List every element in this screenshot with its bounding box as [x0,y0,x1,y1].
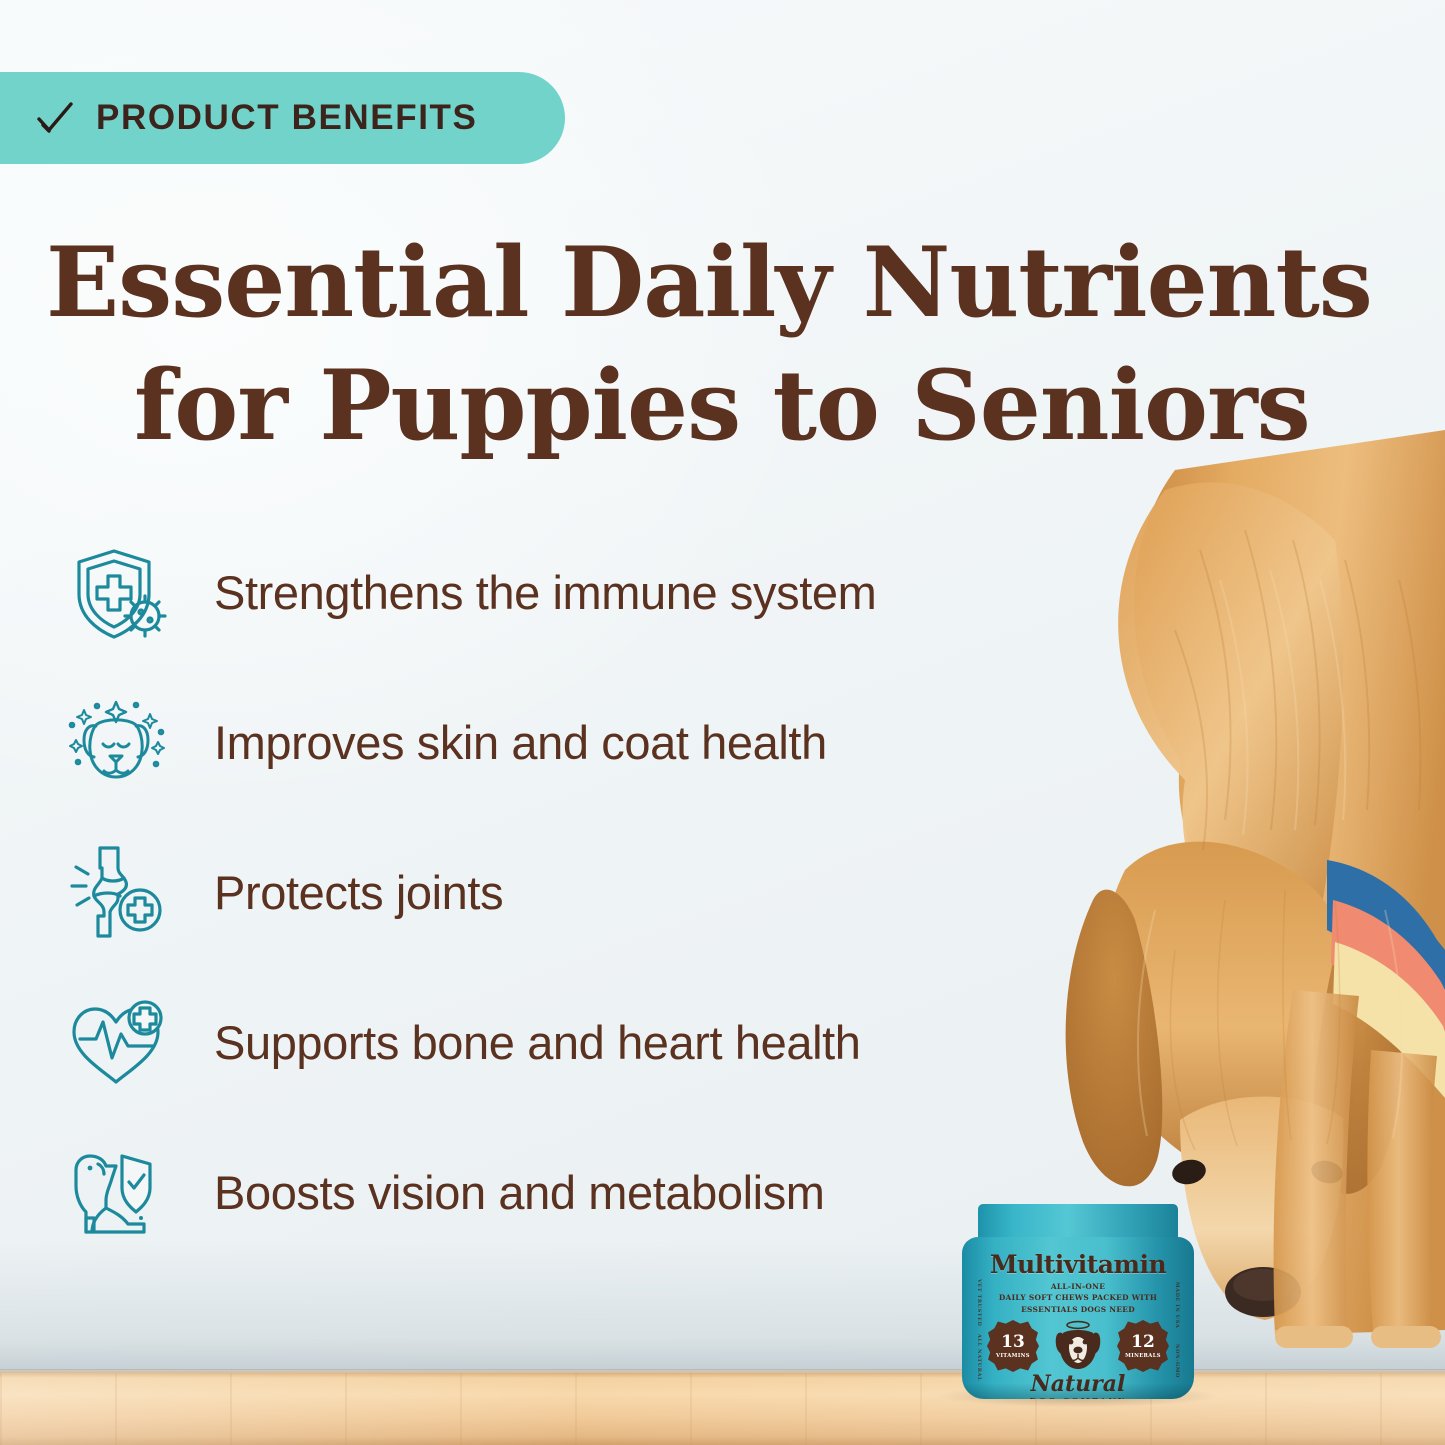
benefit-text: Strengthens the immune system [214,565,876,620]
jar-lid [978,1204,1178,1240]
dog-shield-check-icon [62,1142,170,1242]
product-jar: Multivitamin ALL-IN-ONE DAILY SOFT CHEWS… [962,1204,1194,1399]
benefit-text: Supports bone and heart health [214,1015,861,1070]
jar-side-text-left: VET TRUSTED ALL NATURAL [966,1275,992,1385]
page-title: Essential Daily Nutrients for Puppies to… [46,222,1416,468]
benefits-list: Strengthens the immune system [62,528,1042,1278]
benefit-item-immune: Strengthens the immune system [62,528,1042,656]
side-claim-nongmo: NON-GMO [1174,1344,1180,1378]
product-title: Multivitamin [962,1250,1194,1279]
benefit-item-vision-metabolism: Boosts vision and metabolism [62,1128,1042,1256]
heart-pulse-plus-icon [62,992,170,1092]
jar-body: Multivitamin ALL-IN-ONE DAILY SOFT CHEWS… [962,1237,1194,1399]
shield-virus-icon [62,542,170,642]
dog-face-sparkle-icon [62,692,170,792]
product-subtitle: ALL-IN-ONE DAILY SOFT CHEWS PACKED WITH … [996,1281,1160,1315]
product-subtitle-line-2: DAILY SOFT CHEWS PACKED WITH [996,1292,1160,1303]
jar-side-text-right: MADE IN USA NON-GMO [1164,1275,1190,1385]
badge-label: PRODUCT BENEFITS [96,98,477,138]
product-nutrient-badges: 13 VITAMINS [962,1315,1194,1377]
product-benefits-badge: PRODUCT BENEFITS [0,72,565,164]
product-subtitle-line-3: ESSENTIALS DOGS NEED [996,1304,1160,1315]
joint-bone-plus-icon [62,842,170,942]
benefit-item-bone-heart: Supports bone and heart health [62,978,1042,1106]
minerals-count: 12 [1131,1334,1155,1351]
vitamins-badge: 13 VITAMINS [987,1320,1039,1372]
minerals-label: MINERALS [1125,1353,1161,1359]
side-claim-usa: MADE IN USA [1174,1282,1180,1328]
product-benefits-graphic: PRODUCT BENEFITS Essential Daily Nutrien… [0,0,1445,1445]
benefit-text: Improves skin and coat health [214,715,827,770]
benefit-text: Boosts vision and metabolism [214,1165,825,1220]
vitamins-count: 13 [1001,1334,1025,1351]
check-icon [34,98,74,138]
wood-floor [0,1373,1445,1445]
brand-name: Natural [962,1373,1194,1395]
headline-line-1: Essential Daily Nutrients [46,222,1416,345]
side-claim-vet: VET TRUSTED [976,1279,982,1326]
benefit-text: Protects joints [214,865,503,920]
brand-dog-head-icon [1051,1317,1105,1375]
benefit-item-joints: Protects joints [62,828,1042,956]
minerals-badge: 12 MINERALS [1117,1320,1169,1372]
headline-line-2: for Puppies to Seniors [46,345,1416,468]
side-claim-natural: ALL NATURAL [976,1334,982,1381]
vitamins-label: VITAMINS [996,1353,1030,1359]
product-subtitle-line-1: ALL-IN-ONE [996,1281,1160,1292]
benefit-item-skin-coat: Improves skin and coat health [62,678,1042,806]
brand-subname: DOG COMPANY [962,1396,1194,1399]
